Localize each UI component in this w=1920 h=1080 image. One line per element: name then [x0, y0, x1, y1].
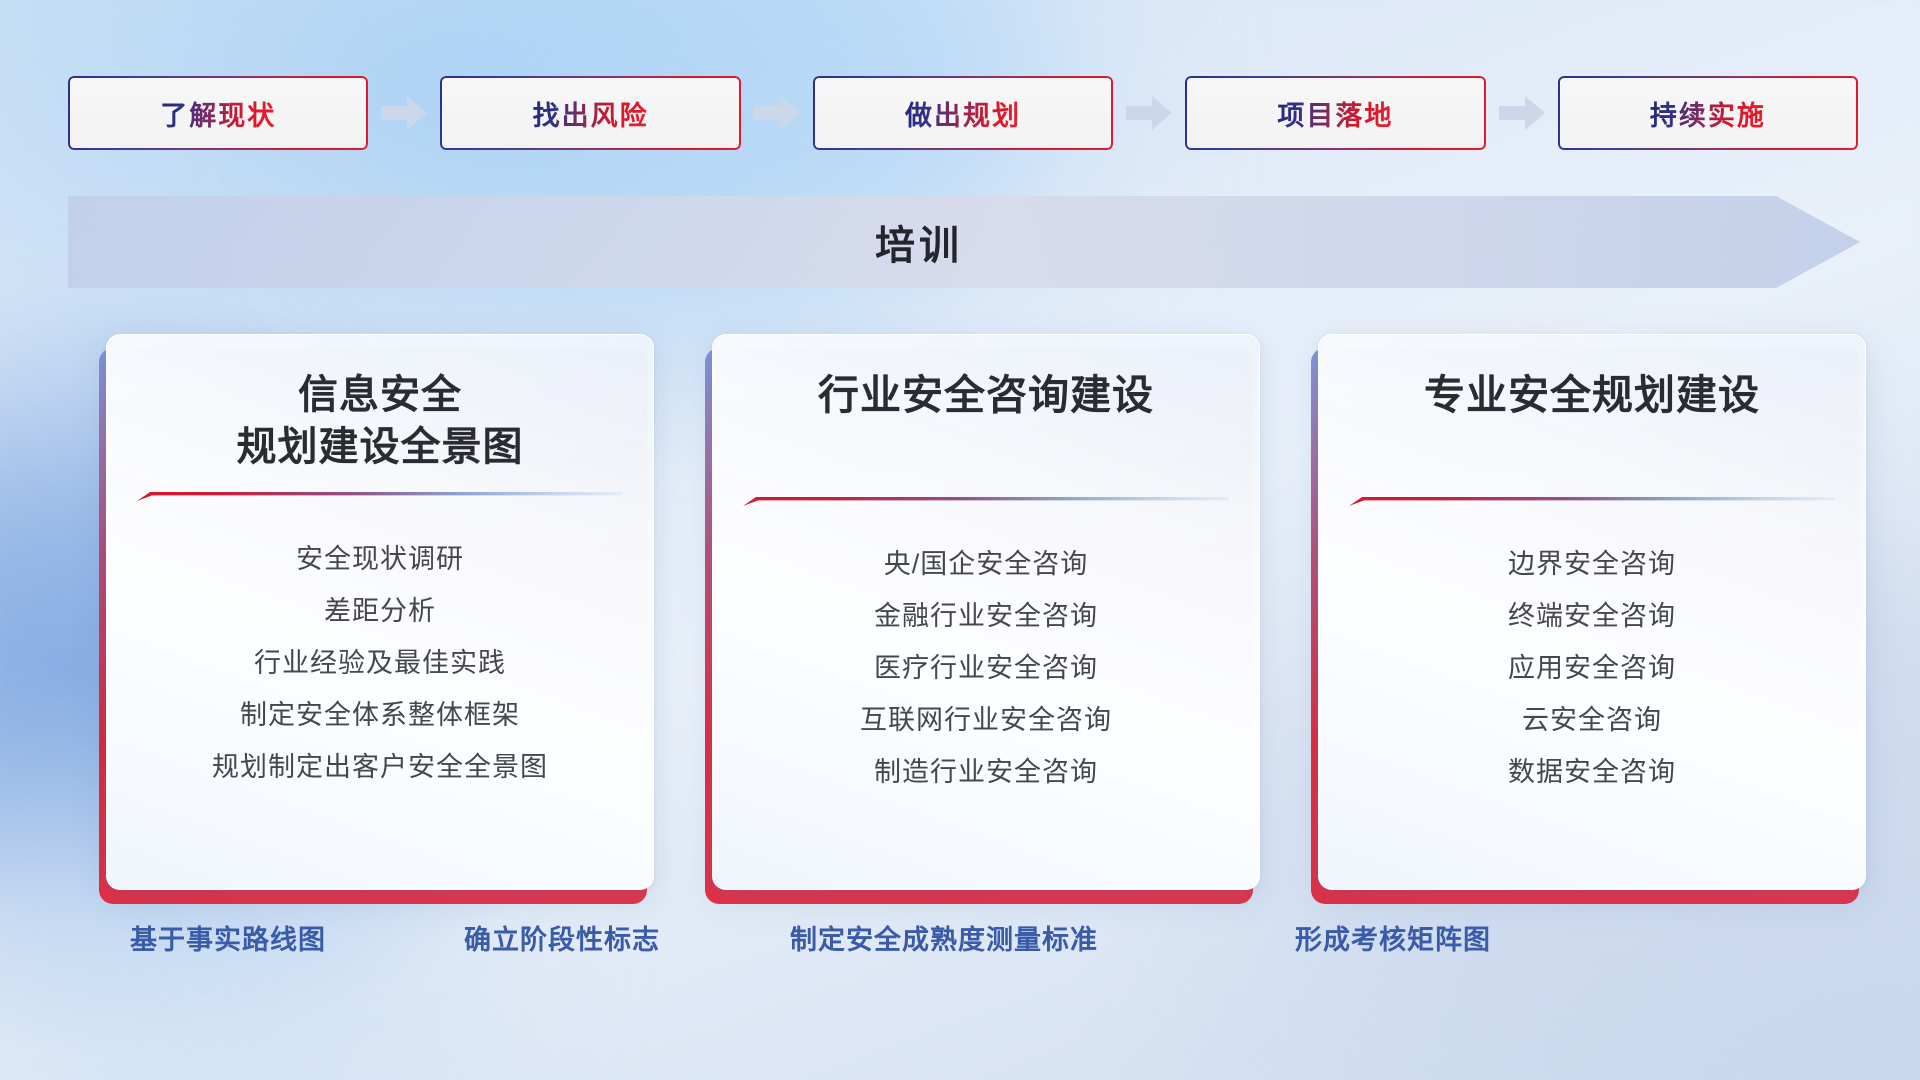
footer-label-1: 基于事实路线图	[130, 918, 326, 957]
card-professional-security-planning[interactable]: 专业安全规划建设 边界安全咨询 终端安全咨询 应用安全咨询 云安全咨询 数据安全…	[1318, 334, 1866, 890]
list-item: 安全现状调研	[137, 533, 623, 585]
step-label: 了解现状	[160, 94, 276, 133]
step-box-3[interactable]: 做出规划	[813, 76, 1113, 150]
list-item: 互联网行业安全咨询	[743, 694, 1229, 746]
list-item: 边界安全咨询	[1349, 538, 1835, 590]
list-item: 差距分析	[137, 585, 623, 637]
card-item-list: 央/国企安全咨询 金融行业安全咨询 医疗行业安全咨询 互联网行业安全咨询 制造行…	[743, 538, 1229, 798]
list-item: 制造行业安全咨询	[743, 746, 1229, 798]
card-row: 信息安全 规划建设全景图 安全现状调研 差距分析 行业经验及最佳实践 制定安全体…	[106, 334, 1866, 890]
list-item: 终端安全咨询	[1349, 590, 1835, 642]
step-box-4[interactable]: 项目落地	[1185, 76, 1485, 150]
card-wrapper-3: 专业安全规划建设 边界安全咨询 终端安全咨询 应用安全咨询 云安全咨询 数据安全…	[1318, 334, 1866, 890]
step-arrow-icon-1	[368, 76, 440, 150]
card-divider	[1349, 494, 1835, 510]
card-industry-security-consulting[interactable]: 行业安全咨询建设 央/国企安全咨询 金融行业安全咨询 医疗行业安全咨询 互联网行…	[712, 334, 1260, 890]
step-label: 持续实施	[1650, 94, 1766, 133]
list-item: 应用安全咨询	[1349, 642, 1835, 694]
card-title: 专业安全规划建设	[1424, 369, 1760, 422]
card-item-list: 安全现状调研 差距分析 行业经验及最佳实践 制定安全体系整体框架 规划制定出客户…	[137, 533, 623, 793]
step-label: 做出规划	[905, 94, 1021, 133]
step-arrow-icon-3	[1113, 76, 1185, 150]
list-item: 制定安全体系整体框架	[137, 689, 623, 741]
list-item: 规划制定出客户安全全景图	[137, 741, 623, 793]
step-label: 找出风险	[533, 94, 649, 133]
list-item: 行业经验及最佳实践	[137, 637, 623, 689]
card-wrapper-1: 信息安全 规划建设全景图 安全现状调研 差距分析 行业经验及最佳实践 制定安全体…	[106, 334, 654, 890]
footer-label-2: 确立阶段性标志	[464, 918, 660, 957]
card-wrapper-2: 行业安全咨询建设 央/国企安全咨询 金融行业安全咨询 医疗行业安全咨询 互联网行…	[712, 334, 1260, 890]
step-arrow-icon-2	[741, 76, 813, 150]
list-item: 云安全咨询	[1349, 694, 1835, 746]
footer-label-row: 基于事实路线图 确立阶段性标志 制定安全成熟度测量标准 形成考核矩阵图	[0, 918, 1920, 962]
process-step-row: 了解现状 找出风险 做出规划 项目落地 持续实施	[68, 76, 1858, 150]
card-divider	[743, 494, 1229, 510]
banner-title: 培训	[68, 196, 1860, 288]
step-box-1[interactable]: 了解现状	[68, 76, 368, 150]
card-item-list: 边界安全咨询 终端安全咨询 应用安全咨询 云安全咨询 数据安全咨询	[1349, 538, 1835, 798]
list-item: 数据安全咨询	[1349, 746, 1835, 798]
list-item: 央/国企安全咨询	[743, 538, 1229, 590]
card-divider	[137, 489, 623, 505]
step-box-5[interactable]: 持续实施	[1558, 76, 1858, 150]
footer-label-3: 制定安全成熟度测量标准	[790, 918, 1098, 957]
card-title: 行业安全咨询建设	[818, 369, 1154, 422]
step-arrow-icon-4	[1486, 76, 1558, 150]
list-item: 金融行业安全咨询	[743, 590, 1229, 642]
footer-label-4: 形成考核矩阵图	[1295, 918, 1491, 957]
training-banner: 培训	[68, 196, 1860, 288]
list-item: 医疗行业安全咨询	[743, 642, 1229, 694]
card-information-security-blueprint[interactable]: 信息安全 规划建设全景图 安全现状调研 差距分析 行业经验及最佳实践 制定安全体…	[106, 334, 654, 890]
card-title: 信息安全 规划建设全景图	[237, 369, 524, 473]
step-label: 项目落地	[1277, 94, 1393, 133]
step-box-2[interactable]: 找出风险	[440, 76, 740, 150]
